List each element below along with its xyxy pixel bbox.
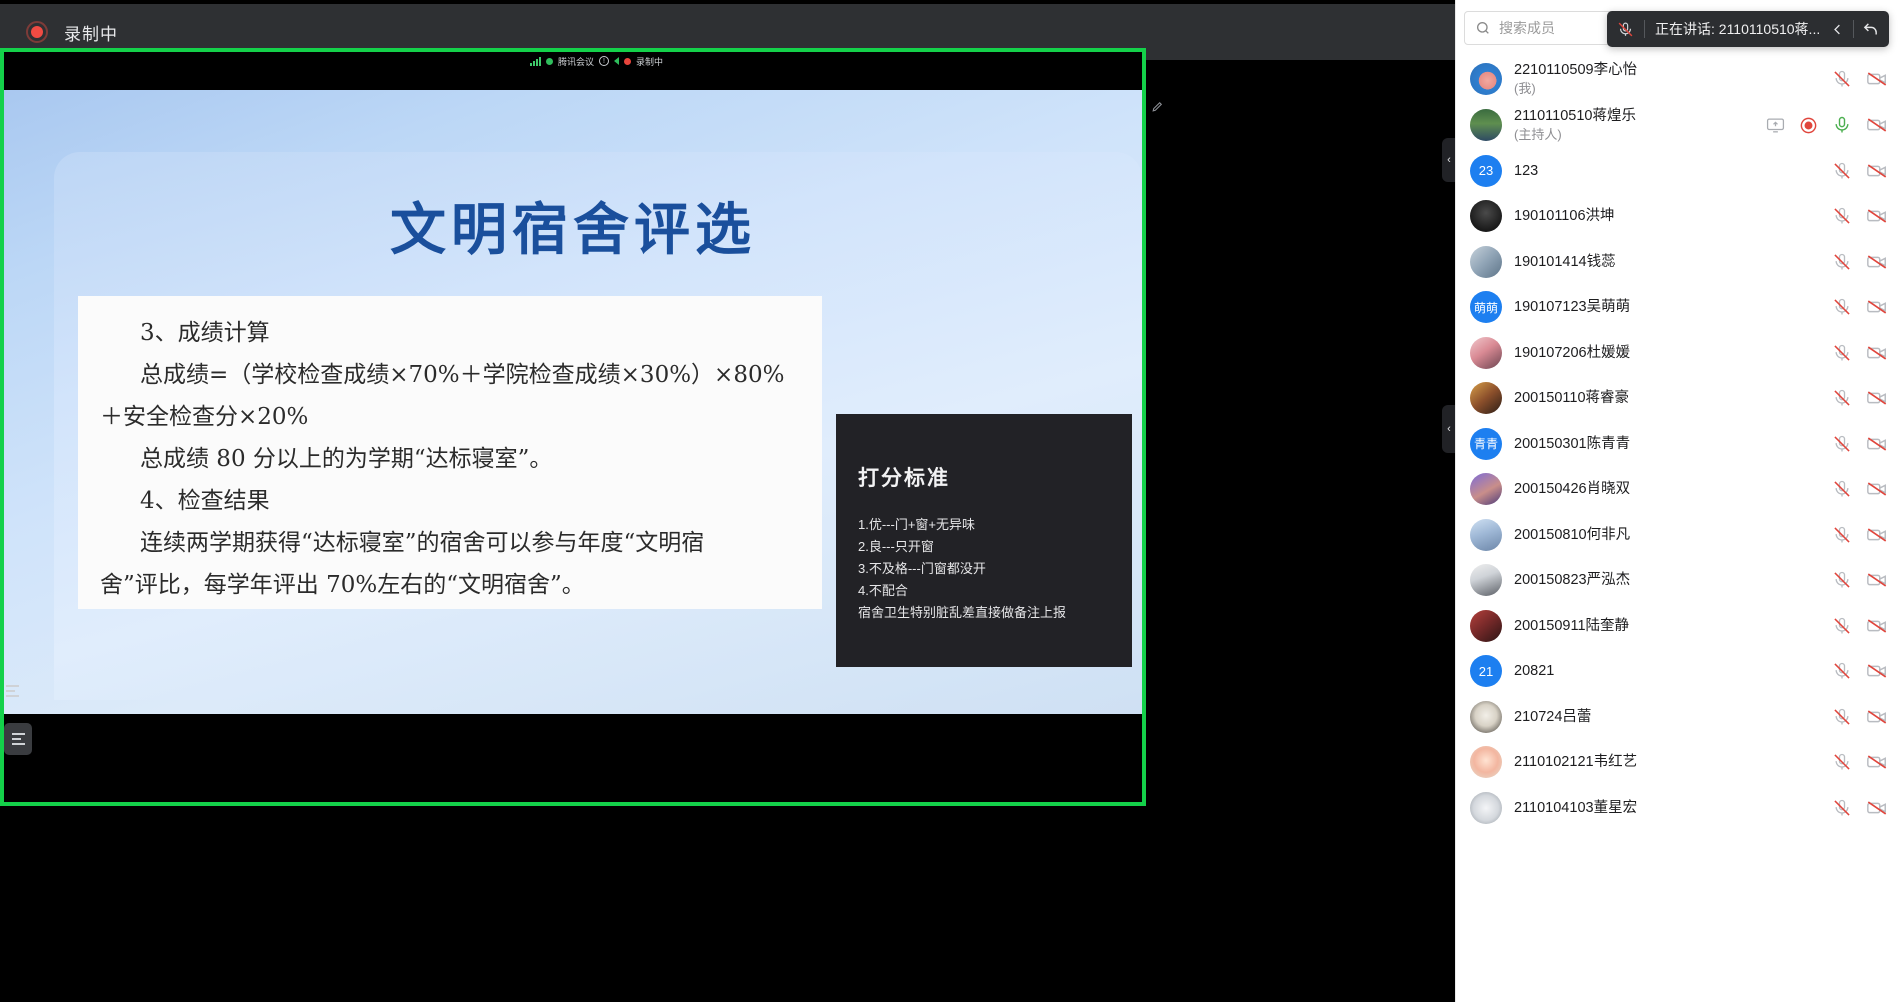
participant-names: 190101414钱蕊: [1514, 252, 1616, 272]
participant-actions: [1832, 615, 1888, 637]
mic-muted-icon[interactable]: [1832, 434, 1852, 454]
participant-names: 190101106洪坤: [1514, 206, 1615, 226]
participant-name: 190107206杜媛媛: [1514, 343, 1630, 363]
scoring-criteria-title: 打分标准: [858, 462, 1132, 492]
participant-role: (我): [1514, 80, 1637, 98]
slide-list-button[interactable]: [4, 723, 32, 755]
participant-actions: [1832, 205, 1888, 227]
participant-row[interactable]: 2110110510蒋煌乐(主持人): [1456, 102, 1898, 148]
camera-off-icon[interactable]: [1866, 296, 1888, 318]
avatar: [1470, 109, 1502, 141]
camera-off-icon[interactable]: [1866, 387, 1888, 409]
record-dot-icon: [624, 58, 631, 65]
participants-panel: 搜索成员 正在讲话: 2110110510蒋...: [1455, 0, 1898, 1002]
participant-names: 2210110509李心怡(我): [1514, 60, 1637, 98]
participant-name: 2110102121韦红艺: [1514, 752, 1637, 772]
participant-row[interactable]: 青青200150301陈青青: [1456, 421, 1898, 467]
recording-icon[interactable]: [1799, 116, 1818, 135]
participant-actions: [1766, 114, 1888, 136]
camera-off-icon[interactable]: [1866, 433, 1888, 455]
slide-line: 3、成绩计算: [100, 312, 802, 354]
camera-off-icon[interactable]: [1866, 342, 1888, 364]
camera-off-icon[interactable]: [1866, 478, 1888, 500]
participant-row[interactable]: 200150110蒋睿豪: [1456, 376, 1898, 422]
avatar: [1470, 200, 1502, 232]
speaking-toolbar: 正在讲话: 2110110510蒋...: [1607, 11, 1889, 47]
participant-names: 210724吕蕾: [1514, 707, 1591, 727]
participant-actions: [1832, 797, 1888, 819]
meeting-app-name: 腾讯会议: [558, 55, 594, 68]
slide-line: ＋安全检查分×20%: [100, 396, 802, 438]
participant-actions: [1832, 342, 1888, 364]
participant-names: 200150911陆奎静: [1514, 616, 1629, 636]
avatar: [1470, 701, 1502, 733]
avatar: [1470, 792, 1502, 824]
mic-muted-icon[interactable]: [1832, 570, 1852, 590]
participant-row[interactable]: 2120821: [1456, 649, 1898, 695]
mic-muted-icon[interactable]: [1832, 297, 1852, 317]
criteria-item: 1.优---门+窗+无异味: [858, 514, 1132, 536]
participant-names: 2110110510蒋煌乐(主持人): [1514, 106, 1636, 144]
meeting-stage: 录制中 腾讯会议 ! 录制中 文明宿舍评选 3、成绩计算 总成绩=（学校检查成绩…: [0, 0, 1455, 1002]
signal-bars-icon: [530, 57, 541, 66]
toolbar-divider: [1644, 20, 1645, 38]
mic-muted-icon[interactable]: [1832, 69, 1852, 89]
participant-names: 200150810何非凡: [1514, 525, 1630, 545]
recording-indicator-icon: [26, 21, 48, 43]
camera-off-icon[interactable]: [1866, 569, 1888, 591]
participant-actions: [1832, 524, 1888, 546]
mic-muted-icon[interactable]: [1832, 707, 1852, 727]
collapse-panel-top-icon[interactable]: ‹: [1442, 138, 1455, 182]
camera-off-icon[interactable]: [1866, 68, 1888, 90]
status-dot-icon: [546, 58, 553, 65]
participant-actions: [1832, 160, 1888, 182]
participant-name: 200150810何非凡: [1514, 525, 1630, 545]
criteria-item: 4.不配合: [858, 580, 1132, 602]
participant-row[interactable]: 200150823严泓杰: [1456, 558, 1898, 604]
mic-muted-icon[interactable]: [1617, 21, 1634, 38]
search-placeholder: 搜索成员: [1499, 18, 1555, 38]
participant-names: 200150823严泓杰: [1514, 570, 1630, 590]
participant-names: 190107123吴萌萌: [1514, 297, 1630, 317]
participant-name: 190107123吴萌萌: [1514, 297, 1630, 317]
avatar: 青青: [1470, 428, 1502, 460]
avatar: [1470, 246, 1502, 278]
slide-title: 文明宿舍评选: [4, 185, 1142, 266]
participant-row[interactable]: 190101106洪坤: [1456, 194, 1898, 240]
participant-row[interactable]: 23123: [1456, 148, 1898, 194]
participant-actions: [1832, 68, 1888, 90]
mic-muted-icon[interactable]: [1832, 616, 1852, 636]
participant-row[interactable]: 190101414钱蕊: [1456, 239, 1898, 285]
participant-name: 190101414钱蕊: [1514, 252, 1616, 272]
slide-line: 4、检查结果: [100, 480, 802, 522]
annotate-pencil-icon[interactable]: [1146, 96, 1168, 116]
participant-names: 20821: [1514, 661, 1554, 681]
mic-muted-icon[interactable]: [1832, 798, 1852, 818]
camera-off-icon[interactable]: [1866, 114, 1888, 136]
participant-actions: [1832, 569, 1888, 591]
participant-row[interactable]: 200150426肖晓双: [1456, 467, 1898, 513]
participant-actions: [1832, 251, 1888, 273]
slide-line: 总成绩=（学校检查成绩×70%＋学院检查成绩×30%）×80%: [100, 354, 802, 396]
participant-name: 2110110510蒋煌乐: [1514, 106, 1636, 126]
camera-off-icon[interactable]: [1866, 524, 1888, 546]
slide-line: 连续两学期获得“达标寝室”的宿舍可以参与年度“文明宿: [100, 522, 802, 564]
slide-text-card: 3、成绩计算 总成绩=（学校检查成绩×70%＋学院检查成绩×30%）×80% ＋…: [78, 296, 822, 609]
avatar: 23: [1470, 155, 1502, 187]
participant-name: 200150823严泓杰: [1514, 570, 1630, 590]
embedded-meeting-toolbar: 腾讯会议 ! 录制中: [530, 53, 663, 69]
avatar: [1470, 610, 1502, 642]
participant-actions: [1832, 433, 1888, 455]
scoring-criteria-list: 1.优---门+窗+无异味 2.良---只开窗 3.不及格---门窗都没开 4.…: [858, 514, 1132, 624]
mic-muted-icon[interactable]: [1832, 661, 1852, 681]
camera-off-icon[interactable]: [1866, 251, 1888, 273]
avatar: [1470, 519, 1502, 551]
collapse-panel-middle-icon[interactable]: ‹: [1442, 405, 1455, 453]
participant-row[interactable]: 2110102121韦红艺: [1456, 740, 1898, 786]
criteria-item: 2.良---只开窗: [858, 536, 1132, 558]
camera-off-icon[interactable]: [1866, 660, 1888, 682]
criteria-item: 宿舍卫生特别脏乱差直接做备注上报: [858, 602, 1132, 624]
participant-actions: [1832, 660, 1888, 682]
participant-actions: [1832, 478, 1888, 500]
participant-name: 210724吕蕾: [1514, 707, 1591, 727]
avatar: [1470, 473, 1502, 505]
camera-off-icon[interactable]: [1866, 751, 1888, 773]
mic-muted-icon[interactable]: [1832, 206, 1852, 226]
participant-name: 123: [1514, 161, 1538, 181]
mic-muted-icon[interactable]: [1832, 343, 1852, 363]
mic-muted-icon[interactable]: [1832, 388, 1852, 408]
slide-list-toggle-icon[interactable]: [2, 680, 22, 702]
screen-share-icon[interactable]: [1766, 116, 1785, 135]
participant-name: 200150110蒋睿豪: [1514, 388, 1629, 408]
participant-name: 2110104103董星宏: [1514, 798, 1637, 818]
speaker-icon: [614, 57, 619, 65]
mic-muted-icon[interactable]: [1832, 525, 1852, 545]
participant-names: 190107206杜媛媛: [1514, 343, 1630, 363]
participant-row[interactable]: 210724吕蕾: [1456, 694, 1898, 740]
criteria-item: 3.不及格---门窗都没开: [858, 558, 1132, 580]
shared-screen-letterbox-bottom: [4, 714, 1142, 802]
participant-names: 200150301陈青青: [1514, 434, 1630, 454]
mic-muted-icon[interactable]: [1832, 252, 1852, 272]
avatar: 21: [1470, 655, 1502, 687]
mic-on-icon[interactable]: [1832, 115, 1852, 135]
mic-muted-icon[interactable]: [1832, 161, 1852, 181]
participant-name: 200150301陈青青: [1514, 434, 1630, 454]
participant-actions: [1832, 296, 1888, 318]
participant-row[interactable]: 2210110509李心怡(我): [1456, 56, 1898, 102]
participant-names: 2110102121韦红艺: [1514, 752, 1637, 772]
participant-list[interactable]: 2210110509李心怡(我) 2110110510蒋煌乐(主持人) 2312…: [1456, 56, 1898, 1002]
slide-line: 舍”评比，每学年评出 70%左右的“文明宿舍”。: [100, 564, 802, 606]
participant-name: 200150911陆奎静: [1514, 616, 1629, 636]
participant-names: 123: [1514, 161, 1538, 181]
avatar: [1470, 337, 1502, 369]
camera-off-icon[interactable]: [1866, 205, 1888, 227]
participant-name: 2210110509李心怡: [1514, 60, 1637, 80]
camera-off-icon[interactable]: [1866, 160, 1888, 182]
participant-row[interactable]: 萌萌190107123吴萌萌: [1456, 285, 1898, 331]
panel-header: 搜索成员 正在讲话: 2110110510蒋...: [1456, 0, 1898, 56]
participant-actions: [1832, 751, 1888, 773]
participant-names: 2110104103董星宏: [1514, 798, 1637, 818]
undo-arrow-icon[interactable]: [1862, 21, 1879, 38]
info-icon: !: [599, 56, 609, 66]
avatar: [1470, 564, 1502, 596]
collapse-toolbar-icon[interactable]: [1830, 22, 1845, 37]
participant-row[interactable]: 2110104103董星宏: [1456, 785, 1898, 831]
avatar: [1470, 746, 1502, 778]
camera-off-icon[interactable]: [1866, 615, 1888, 637]
participant-names: 200150426肖晓双: [1514, 479, 1630, 499]
participant-names: 200150110蒋睿豪: [1514, 388, 1629, 408]
mic-muted-icon[interactable]: [1832, 752, 1852, 772]
participant-row[interactable]: 200150810何非凡: [1456, 512, 1898, 558]
shared-slide: 文明宿舍评选 3、成绩计算 总成绩=（学校检查成绩×70%＋学院检查成绩×30%…: [4, 90, 1142, 714]
mic-muted-icon[interactable]: [1832, 479, 1852, 499]
participant-name: 200150426肖晓双: [1514, 479, 1630, 499]
embedded-recording-label: 录制中: [636, 55, 663, 68]
avatar: [1470, 382, 1502, 414]
camera-off-icon[interactable]: [1866, 706, 1888, 728]
toolbar-divider-2: [1853, 20, 1854, 38]
avatar: 萌萌: [1470, 291, 1502, 323]
participant-actions: [1832, 706, 1888, 728]
avatar: [1470, 63, 1502, 95]
participant-role: (主持人): [1514, 126, 1636, 144]
participant-row[interactable]: 190107206杜媛媛: [1456, 330, 1898, 376]
participant-name: 20821: [1514, 661, 1554, 681]
camera-off-icon[interactable]: [1866, 797, 1888, 819]
slide-line: 总成绩 80 分以上的为学期“达标寝室”。: [100, 438, 802, 480]
speaking-label: 正在讲话: 2110110510蒋...: [1655, 19, 1820, 39]
participant-row[interactable]: 200150911陆奎静: [1456, 603, 1898, 649]
search-icon: [1475, 20, 1491, 36]
participant-actions: [1832, 387, 1888, 409]
scoring-criteria-card: 打分标准 1.优---门+窗+无异味 2.良---只开窗 3.不及格---门窗都…: [836, 414, 1132, 667]
recording-label: 录制中: [64, 20, 118, 45]
participant-name: 190101106洪坤: [1514, 206, 1615, 226]
